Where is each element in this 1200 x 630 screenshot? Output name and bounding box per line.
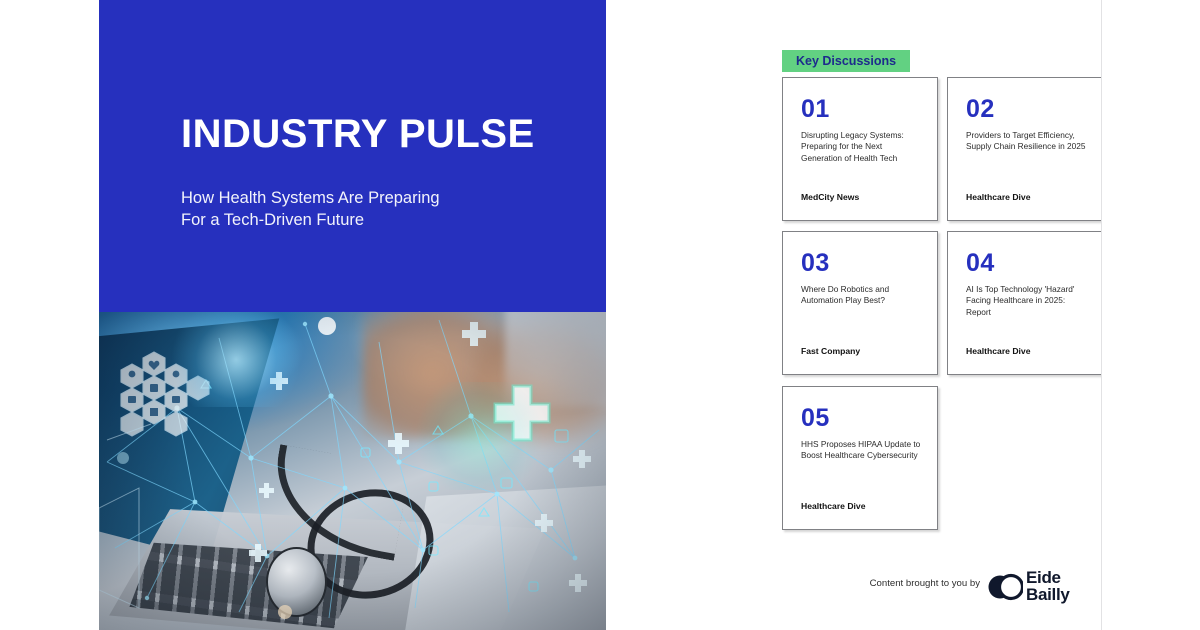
logo-word-line-1: Eide — [1026, 569, 1070, 586]
footer: Content brought to you by Eide Bailly — [606, 566, 1102, 612]
key-discussions-tab: Key Discussions — [782, 50, 910, 72]
card-headline: Providers to Target Efficiency, Supply C… — [966, 130, 1088, 153]
card-number: 05 — [801, 404, 830, 433]
eide-bailly-circles-icon — [987, 571, 1023, 603]
card-number: 04 — [966, 249, 995, 278]
hero-subtitle-line-2: For a Tech-Driven Future — [181, 209, 440, 231]
eide-bailly-logo: Eide Bailly — [987, 566, 1087, 608]
card-source: Healthcare Dive — [801, 501, 866, 511]
discussion-card-01[interactable]: 01 Disrupting Legacy Systems: Preparing … — [782, 77, 938, 221]
discussion-card-03[interactable]: 03 Where Do Robotics and Automation Play… — [782, 231, 938, 375]
hero-subtitle: How Health Systems Are Preparing For a T… — [181, 187, 440, 232]
card-headline: Disrupting Legacy Systems: Preparing for… — [801, 130, 923, 164]
card-headline: HHS Proposes HIPAA Update to Boost Healt… — [801, 439, 923, 462]
hero-blue-block: INDUSTRY PULSE How Health Systems Are Pr… — [99, 0, 606, 312]
photo-vignette — [99, 312, 606, 630]
card-number: 03 — [801, 249, 830, 278]
hero-panel: INDUSTRY PULSE How Health Systems Are Pr… — [99, 0, 606, 630]
discussion-card-05[interactable]: 05 HHS Proposes HIPAA Update to Boost He… — [782, 386, 938, 530]
card-number: 01 — [801, 95, 830, 124]
card-source: Healthcare Dive — [966, 192, 1031, 202]
slide-canvas: INDUSTRY PULSE How Health Systems Are Pr… — [99, 0, 1102, 630]
card-source: MedCity News — [801, 192, 859, 202]
page-title: INDUSTRY PULSE — [181, 113, 535, 155]
eide-bailly-wordmark: Eide Bailly — [1026, 569, 1070, 604]
card-number: 02 — [966, 95, 995, 124]
card-headline: AI Is Top Technology 'Hazard' Facing Hea… — [966, 284, 1088, 318]
logo-word-line-2: Bailly — [1026, 586, 1070, 603]
hero-subtitle-line-1: How Health Systems Are Preparing — [181, 187, 440, 209]
discussion-card-02[interactable]: 02 Providers to Target Efficiency, Suppl… — [947, 77, 1102, 221]
attribution-text: Content brought to you by — [870, 578, 980, 589]
discussion-card-04[interactable]: 04 AI Is Top Technology 'Hazard' Facing … — [947, 231, 1102, 375]
content-panel: Key Discussions 01 Disrupting Legacy Sys… — [606, 0, 1102, 630]
hero-photo — [99, 312, 606, 630]
card-source: Fast Company — [801, 346, 860, 356]
card-headline: Where Do Robotics and Automation Play Be… — [801, 284, 923, 307]
card-source: Healthcare Dive — [966, 346, 1031, 356]
